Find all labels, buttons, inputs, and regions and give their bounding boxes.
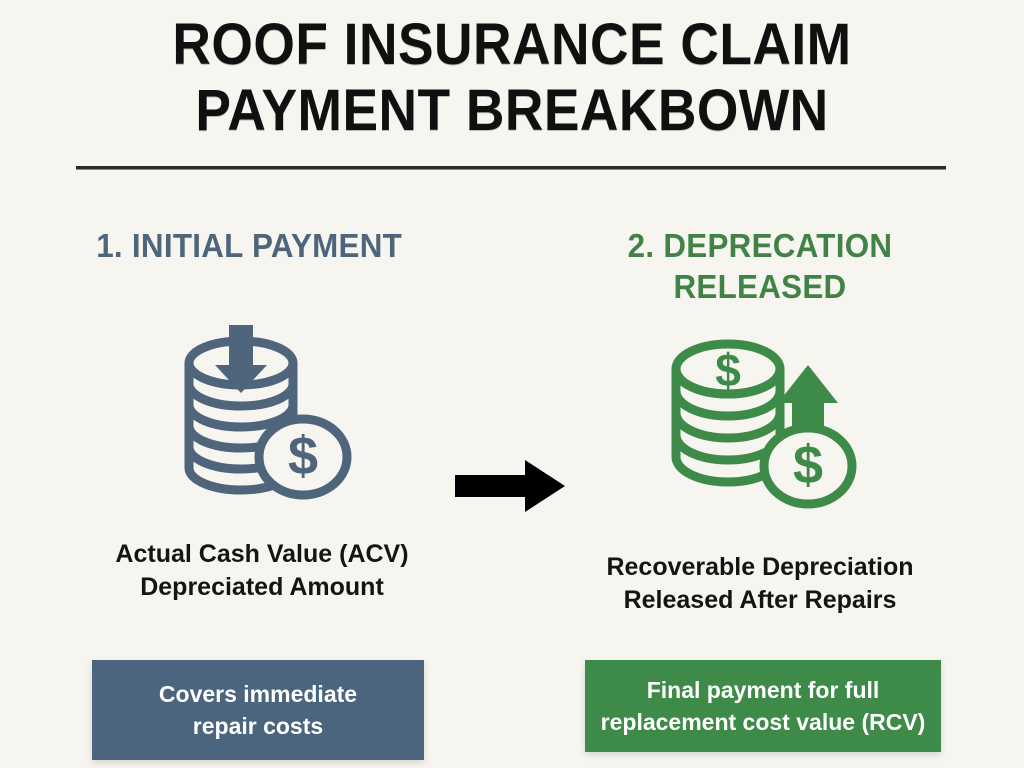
step-1-heading: 1. INITIAL PAYMENT [62,225,442,266]
flow-arrow-container [455,458,565,514]
dollar-coin-glyph: $ [259,419,347,495]
step-1-callout-box: Covers immediate repair costs [92,660,424,760]
right-arrow-icon [455,458,565,514]
svg-text:$: $ [793,435,823,495]
svg-text:$: $ [288,426,318,486]
step-2-caption: Recoverable Depreciation Released After … [560,551,960,617]
step-2-callout-box: Final payment for full replacement cost … [585,660,941,752]
title-line-1: ROOF INSURANCE CLAIM [41,12,983,78]
step-1-icon-container: $ [62,318,462,508]
step-1-caption: Actual Cash Value (ACV) Depreciated Amou… [62,538,462,604]
title-divider-rule [76,166,946,170]
title-line-2: PAYMENT BREAKBOWN [41,78,983,144]
top-coin-dollar-glyph: $ [715,344,741,396]
coin-stack-up-arrow-icon: $ $ [660,337,860,512]
page-title: ROOF INSURANCE CLAIM PAYMENT BREAKBOWN [0,12,1024,144]
step-2-icon-container: $ $ [560,329,960,519]
coin-stack-down-arrow-icon: $ [167,321,357,506]
step-1-column: 1. INITIAL PAYMENT [62,225,462,604]
step-2-column: 2. DEPRECATION RELEASED $ [560,225,960,617]
step-2-heading: 2. DEPRECATION RELEASED [570,225,950,307]
dollar-coin-glyph: $ [764,428,852,504]
infographic-canvas: ROOF INSURANCE CLAIM PAYMENT BREAKBOWN 1… [0,0,1024,768]
